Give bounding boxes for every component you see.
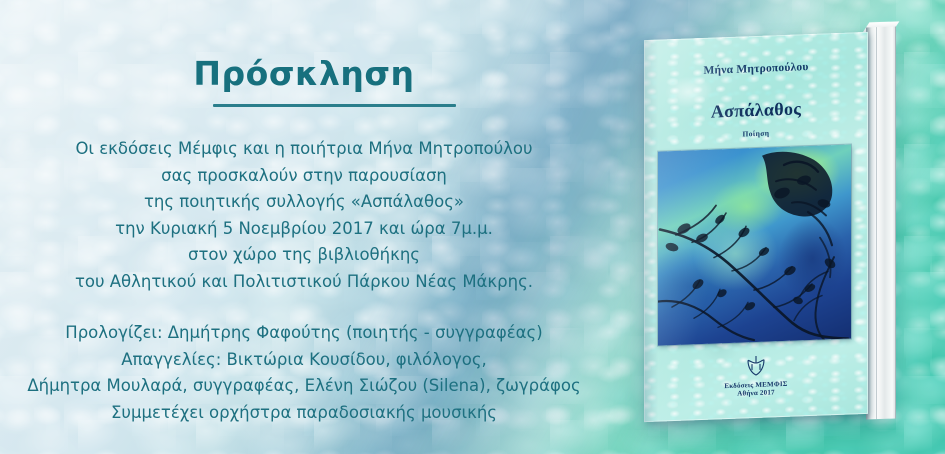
invitation-main-paragraph: Οι εκδόσεις Μέμφις και η ποιήτρια Μήνα Μ… [0, 136, 608, 295]
invitation-line: Οι εκδόσεις Μέμφις και η ποιήτρια Μήνα Μ… [0, 136, 608, 163]
invitation-line: την Κυριακή 5 Νοεμβρίου 2017 και ώρα 7μ.… [0, 216, 608, 243]
invitation-poster: Πρόσκληση Οι εκδόσεις Μέμφις και η ποιήτ… [0, 0, 945, 454]
book-page-edge [866, 26, 896, 419]
title-underline [213, 104, 456, 107]
credit-line: Απαγγελίες: Βικτώρια Κουσίδου, φιλόλογος… [0, 347, 608, 374]
invitation-line: στον χώρο της βιβλιοθήκης [0, 242, 608, 269]
book-mockup: Μήνα Μητροπούλου Ασπάλαθος Ποίηση [600, 0, 945, 454]
book-front-cover: Μήνα Μητροπούλου Ασπάλαθος Ποίηση [644, 32, 868, 422]
invitation-text-block: Πρόσκληση Οι εκδόσεις Μέμφις και η ποιήτ… [0, 0, 608, 454]
invitation-credits-paragraph: Προλογίζει: Δημήτρης Φαφούτης (ποιητής -… [0, 320, 608, 426]
credit-line: Συμμετέχει ορχήστρα παραδοσιακής μουσική… [0, 400, 608, 427]
cover-light-sheen [644, 32, 868, 422]
invitation-line: του Αθλητικού και Πολιτιστικού Πάρκου Νέ… [0, 269, 608, 296]
credit-line: Προλογίζει: Δημήτρης Φαφούτης (ποιητής -… [0, 320, 608, 347]
invitation-line: σας προσκαλούν στην παρουσίαση [0, 163, 608, 190]
page-title: Πρόσκληση [0, 54, 608, 93]
invitation-line: της ποιητικής συλλογής «Ασπάλαθος» [0, 189, 608, 216]
credit-line: Δήμητρα Μουλαρά, συγγραφέας, Ελένη Σιώζο… [0, 373, 608, 400]
